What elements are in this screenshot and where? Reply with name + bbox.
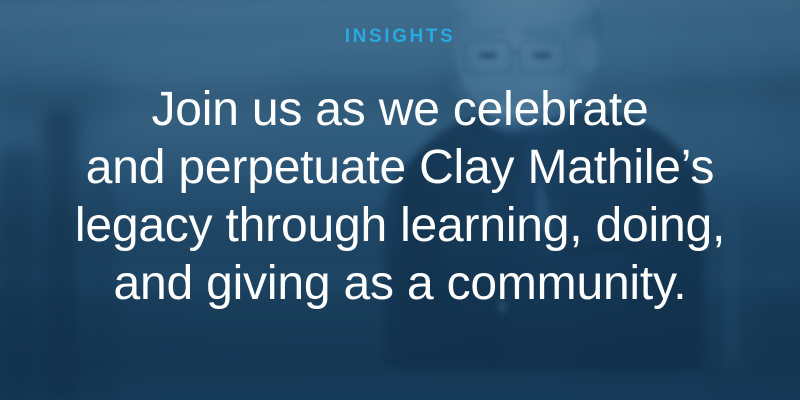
headline: Join us as we celebrate and perpetuate C… [75, 81, 725, 313]
headline-line-2: and perpetuate Clay Mathile’s [75, 139, 725, 197]
banner-content: INSIGHTS Join us as we celebrate and per… [0, 0, 800, 400]
eyebrow-label: INSIGHTS [345, 26, 456, 48]
headline-line-4: and giving as a community. [75, 255, 725, 313]
headline-line-1: Join us as we celebrate [75, 81, 725, 139]
insights-hero-banner: INSIGHTS Join us as we celebrate and per… [0, 0, 800, 400]
headline-line-3: legacy through learning, doing, [75, 197, 725, 255]
